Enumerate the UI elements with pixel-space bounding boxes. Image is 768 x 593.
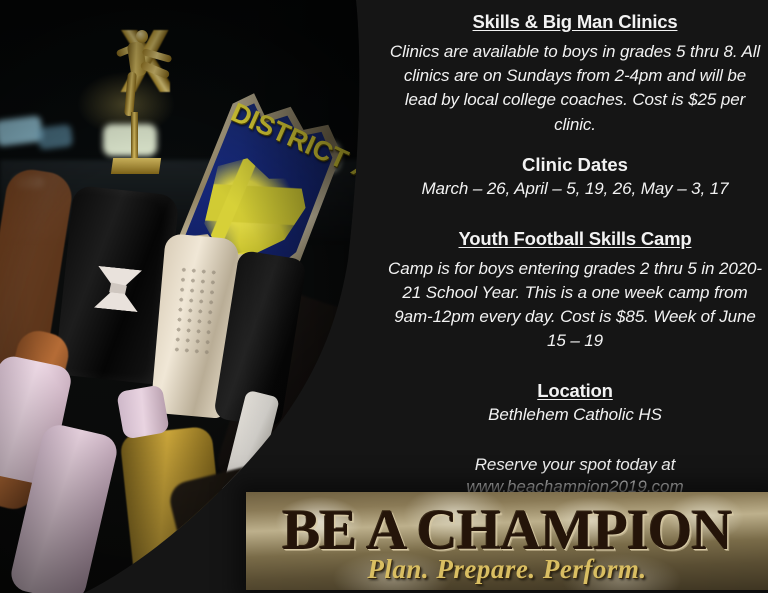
wristband bbox=[116, 384, 170, 439]
section-youth-camp: Youth Football Skills Camp Camp is for b… bbox=[388, 227, 762, 354]
section-location: Location Bethlehem Catholic HS bbox=[388, 379, 762, 426]
flyer-canvas: DISTRICT XI Skills & Big bbox=[0, 0, 768, 593]
section-reserve: Reserve your spot today at www.beachampi… bbox=[388, 453, 762, 497]
clinic-dates-heading: Clinic Dates bbox=[388, 153, 762, 177]
gold-football-trophy-icon bbox=[96, 22, 216, 172]
location-body: Bethlehem Catholic HS bbox=[388, 403, 762, 427]
location-heading: Location bbox=[388, 379, 762, 402]
clinic-dates-body: March – 26, April – 5, 19, 26, May – 3, … bbox=[388, 177, 762, 201]
stadium-light-icon bbox=[37, 124, 73, 150]
skills-clinics-heading: Skills & Big Man Clinics bbox=[388, 10, 762, 33]
section-skills-clinics: Skills & Big Man Clinics Clinics are ava… bbox=[388, 10, 762, 137]
be-a-champion-logo-banner: BE A CHAMPION Plan. Prepare. Perform. bbox=[246, 492, 768, 590]
information-panel: Skills & Big Man Clinics Clinics are ava… bbox=[382, 0, 768, 480]
youth-camp-body: Camp is for boys entering grades 2 thru … bbox=[388, 257, 762, 354]
under-armour-logo-icon bbox=[94, 266, 142, 312]
section-clinic-dates: Clinic Dates March – 26, April – 5, 19, … bbox=[388, 153, 762, 201]
logo-tagline: Plan. Prepare. Perform. bbox=[246, 554, 768, 585]
youth-camp-heading: Youth Football Skills Camp bbox=[388, 227, 762, 250]
reserve-line: Reserve your spot today at bbox=[388, 453, 762, 477]
skills-clinics-body: Clinics are available to boys in grades … bbox=[388, 40, 762, 137]
